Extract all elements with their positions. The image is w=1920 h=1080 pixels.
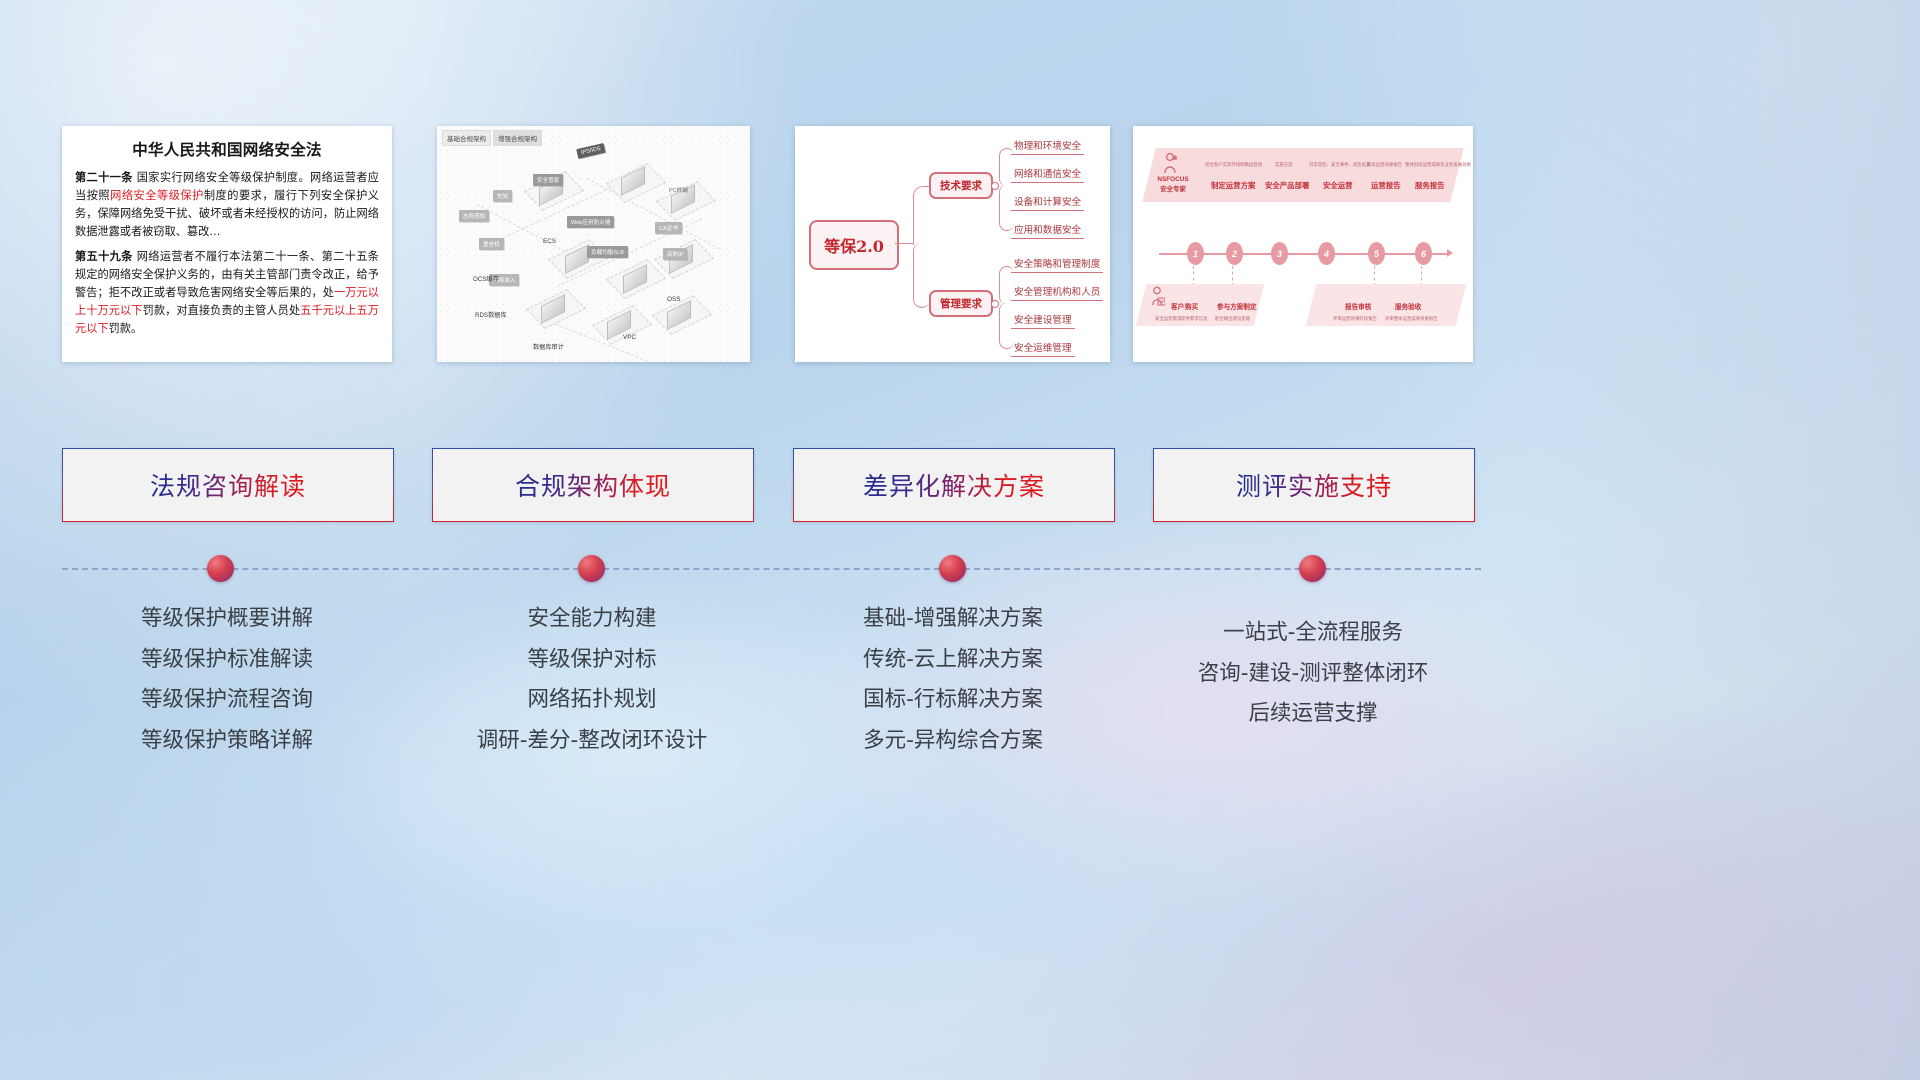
mindmap-collapse-dot-icon[interactable]: [991, 300, 999, 308]
header-box-differentiated-solution[interactable]: 差异化解决方案: [793, 448, 1115, 522]
mindmap-root-node: 等保2.0: [809, 220, 899, 270]
roadmap-step-number: 6: [1415, 242, 1432, 265]
timeline-dashed-line: [62, 568, 1481, 570]
list-item: 等级保护标准解读: [62, 649, 392, 671]
node-rds-database: RDS数据库: [475, 310, 507, 319]
mindmap-collapse-dot-icon[interactable]: [991, 182, 999, 190]
roadmap-step-main: 运营报告: [1371, 180, 1401, 191]
law-document: 中华人民共和国网络安全法 第二十一条 国家实行网络安全等级保护制度。网络运营者应…: [62, 126, 392, 362]
client-note: 评审整体运营成果效果报告: [1385, 316, 1438, 322]
card-dengbao-mindmap[interactable]: 等保2.0 技术要求 物理和环境安全 网络和通信安全 设备和计算安全 应用和数据…: [795, 126, 1110, 362]
list-item: 安全能力构建: [432, 608, 752, 630]
client-role-sub: 安全运营需求: [1155, 316, 1181, 322]
mindmap-leaf: 安全策略和管理制度: [1011, 256, 1103, 273]
client-role-label: 客户: [1171, 301, 1184, 311]
article-59-post: 罚款。: [109, 322, 143, 335]
roadmap-step-sub: 整体阶段运营成果及业务发展效果: [1405, 162, 1471, 168]
roadmap-drop-line: [1374, 266, 1375, 286]
mindmap-connector: [913, 186, 930, 245]
expert-role-label: 安全专家: [1153, 186, 1193, 194]
roadmap-step-main: 服务报告: [1415, 180, 1445, 191]
roadmap-drop-line: [1232, 266, 1233, 286]
header-label: 合规架构体现: [515, 467, 671, 503]
law-article-21: 第二十一条 国家实行网络安全等级保护制度。网络运营者应当按照网络安全等级保护制度…: [75, 169, 379, 242]
roadmap-drop-line: [1421, 266, 1422, 286]
header-box-row: 法规咨询解读 合规架构体现 差异化解决方案 测评实施支持: [0, 448, 1920, 520]
node-situational-awareness: 态势感知: [459, 210, 489, 222]
mindmap-leaf: 安全运维管理: [1011, 340, 1075, 357]
node-database-audit: 数据库审计: [533, 342, 564, 351]
list-item: 等级保护概要讲解: [62, 608, 392, 630]
mindmap-branch-technical: 技术要求: [929, 172, 993, 199]
law-title: 中华人民共和国网络安全法: [75, 138, 379, 160]
roadmap-step-sub: 实施方案: [1275, 162, 1293, 168]
timeline: [0, 568, 1920, 598]
architecture-tab-bar[interactable]: 基础合规架构 增强合规架构: [442, 130, 542, 146]
mindmap-leaf: 设备和计算安全: [1011, 194, 1084, 211]
article-21-label: 第二十一条: [75, 171, 133, 184]
timeline-node-2[interactable]: [578, 555, 605, 582]
list-item: 等级保护对标: [432, 649, 752, 671]
timeline-node-3[interactable]: [939, 555, 966, 582]
mindmap-leaf: 应用和数据安全: [1011, 222, 1084, 239]
detail-column-assessment-support: 一站式-全流程服务 咨询-建设-测评整体闭环 后续运营支撑: [1153, 608, 1473, 744]
article-21-highlight: 网络安全等级保护: [110, 189, 204, 202]
expert-person-icon: [1163, 152, 1179, 174]
list-item: 后续运营支撑: [1153, 703, 1473, 725]
roadmap-step-number: 4: [1318, 242, 1335, 265]
header-box-compliance-architecture[interactable]: 合规架构体现: [432, 448, 754, 522]
list-item: 等级保护流程咨询: [62, 689, 392, 711]
timeline-node-1[interactable]: [207, 555, 234, 582]
mindmap-branch-management: 管理要求: [929, 290, 993, 317]
node-ocs-cache: OCS缓存: [473, 274, 499, 283]
node-oss: OSS: [667, 296, 681, 303]
roadmap-step-number: 5: [1368, 242, 1385, 265]
roadmap-axis-arrow-icon: [1447, 249, 1453, 257]
header-box-assessment-support[interactable]: 测评实施支持: [1153, 448, 1475, 522]
header-label: 法规咨询解读: [150, 467, 306, 503]
client-action-report-review: 报告审核: [1345, 301, 1371, 311]
mindmap-connector: [913, 243, 930, 308]
architecture-diagram: 基础合规架构 增强合规架构: [437, 126, 750, 362]
detail-column-differentiated-solution: 基础-增强解决方案 传统-云上解决方案 国标-行标解决方案 多元-异构综合方案: [793, 608, 1113, 770]
preview-card-row: 中华人民共和国网络安全法 第二十一条 国家实行网络安全等级保护制度。网络运营者应…: [0, 126, 1920, 362]
node-vpc: VPC: [623, 334, 636, 341]
roadmap-drop-line: [1193, 266, 1194, 286]
timeline-node-4[interactable]: [1299, 555, 1326, 582]
card-compliance-architecture[interactable]: 基础合规架构 增强合规架构: [437, 126, 750, 362]
header-label: 测评实施支持: [1236, 467, 1392, 503]
detail-column-row: 等级保护概要讲解 等级保护标准解读 等级保护流程咨询 等级保护策略详解 安全能力…: [0, 608, 1920, 818]
list-item: 网络拓扑规划: [432, 689, 752, 711]
header-label: 差异化解决方案: [863, 467, 1045, 503]
roadmap-step-number: 2: [1226, 242, 1243, 265]
roadmap-step-main: 安全运营: [1323, 180, 1353, 191]
client-note: 提供需求信息: [1181, 316, 1207, 322]
mindmap-diagram: 等保2.0 技术要求 物理和环境安全 网络和通信安全 设备和计算安全 应用和数据…: [795, 126, 1110, 362]
roadmap-step-sub: 阶段运营效果报告: [1367, 162, 1402, 168]
node-bastion-host: 堡垒机: [479, 238, 504, 250]
node-xianzhi: 先知: [493, 190, 512, 202]
mindmap-leaf: 安全管理机构和人员: [1011, 284, 1103, 301]
client-action-purchase: 购买: [1185, 301, 1198, 311]
roadmap-step-number: 3: [1271, 242, 1288, 265]
client-person-icon: [1151, 286, 1165, 306]
client-action-acceptance: 服务验收: [1395, 301, 1421, 311]
tab-enhanced-architecture[interactable]: 增强合规架构: [493, 130, 542, 146]
node-ecs: ECS: [543, 238, 556, 245]
list-item: 多元-异构综合方案: [793, 730, 1113, 752]
client-note: 评审运营效果阶段报告: [1333, 316, 1377, 322]
node-pc-terminal: PC终端: [669, 186, 688, 194]
tab-basic-architecture[interactable]: 基础合规架构: [442, 130, 491, 146]
card-operations-roadmap[interactable]: NSFOCUS 安全专家 结合客户实际环境明确运营具 制定运营方案 实施方案 安…: [1133, 126, 1473, 362]
node-anti-ddos-ip: 高防IP: [663, 248, 687, 260]
list-item: 咨询-建设-测评整体闭环: [1153, 663, 1473, 685]
mindmap-connector: [895, 243, 913, 244]
list-item: 一站式-全流程服务: [1153, 622, 1473, 644]
roadmap-step-number: 1: [1187, 242, 1204, 265]
roadmap-step-sub: 结合客户实际环境明确运营具: [1205, 162, 1262, 168]
expert-brand-label: NSFOCUS: [1153, 176, 1193, 184]
mindmap-leaf: 安全建设管理: [1011, 312, 1075, 329]
roadmap-step-main: 安全产品部署: [1265, 180, 1309, 191]
client-note: 配合输出建设思路: [1215, 316, 1250, 322]
node-waf: Web应用防火墙: [567, 216, 614, 228]
article-59-label: 第五十九条: [75, 250, 133, 263]
client-action-participate: 参与方案制定: [1217, 301, 1257, 311]
detail-column-regulation-consulting: 等级保护概要讲解 等级保护标准解读 等级保护流程咨询 等级保护策略详解: [62, 608, 392, 770]
list-item: 国标-行标解决方案: [793, 689, 1113, 711]
header-box-regulation-consulting[interactable]: 法规咨询解读: [62, 448, 394, 522]
mindmap-leaf: 网络和通信安全: [1011, 166, 1084, 183]
detail-column-compliance-architecture: 安全能力构建 等级保护对标 网络拓扑规划 调研-差分-整改闭环设计: [432, 608, 752, 770]
node-ca-certificate: CA证书: [655, 222, 682, 234]
roadmap-step-sub: 日常巡检、安全事件、高危处置: [1309, 162, 1370, 168]
mindmap-leaf: 物理和环境安全: [1011, 138, 1084, 155]
node-security-butler: 安全管家: [533, 174, 563, 186]
article-59-mid: 罚款，对直接负责的主管人员处: [143, 304, 301, 317]
roadmap-step-main: 制定运营方案: [1211, 180, 1255, 191]
list-item: 基础-增强解决方案: [793, 608, 1113, 630]
law-article-59: 第五十九条 网络运营者不履行本法第二十一条、第二十五条规定的网络安全保护义务的，…: [75, 248, 379, 339]
list-item: 等级保护策略详解: [62, 730, 392, 752]
node-slb: 负载均衡SLB: [587, 246, 628, 258]
roadmap-diagram: NSFOCUS 安全专家 结合客户实际环境明确运营具 制定运营方案 实施方案 安…: [1133, 126, 1473, 362]
list-item: 传统-云上解决方案: [793, 649, 1113, 671]
list-item: 调研-差分-整改闭环设计: [432, 730, 752, 752]
card-cybersecurity-law[interactable]: 中华人民共和国网络安全法 第二十一条 国家实行网络安全等级保护制度。网络运营者应…: [62, 126, 392, 362]
